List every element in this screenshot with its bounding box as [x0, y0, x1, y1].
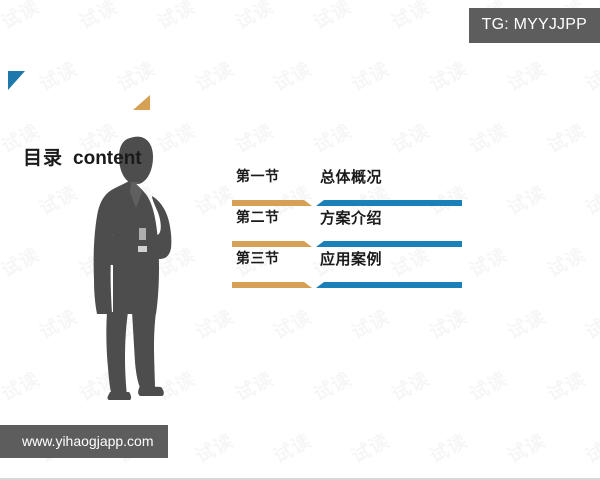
watermark-text: 试读 — [580, 426, 600, 469]
watermark-text: 试读 — [424, 302, 472, 345]
watermark-text: 试读 — [542, 364, 590, 407]
watermark-text: 试读 — [502, 426, 550, 469]
watermark-text: 试读 — [0, 302, 4, 345]
heading-blue-triangle-icon — [8, 71, 25, 90]
watermark-text: 试读 — [386, 116, 434, 159]
watermark-text: 试读 — [580, 54, 600, 97]
watermark-text: 试读 — [0, 364, 44, 407]
watermark-text: 试读 — [502, 178, 550, 221]
slide-canvas: 试读试读试读试读试读试读试读试读试读试读试读试读试读试读试读试读试读试读试读试读… — [0, 0, 600, 480]
agenda-section-title: 应用案例 — [320, 248, 382, 269]
watermark-text: 试读 — [268, 54, 316, 97]
watermark-text: 试读 — [34, 178, 82, 221]
agenda-section-title: 方案介绍 — [320, 207, 382, 228]
page-title: 目录content — [23, 143, 142, 170]
page-title-en: content — [73, 148, 142, 169]
watermark-text: 试读 — [346, 426, 394, 469]
website-url-badge: www.yihaogjapp.com — [0, 425, 168, 458]
watermark-text: 试读 — [346, 302, 394, 345]
watermark-text: 试读 — [424, 54, 472, 97]
agenda-row[interactable]: 第一节 总体概况 — [232, 166, 462, 207]
watermark-text: 试读 — [308, 116, 356, 159]
watermark-text: 试读 — [542, 116, 590, 159]
watermark-text: 试读 — [152, 0, 200, 35]
watermark-text: 试读 — [268, 426, 316, 469]
watermark-text: 试读 — [190, 426, 238, 469]
watermark-text: 试读 — [464, 240, 512, 283]
watermark-text: 试读 — [268, 302, 316, 345]
agenda-section-title: 总体概况 — [320, 166, 382, 187]
watermark-text: 试读 — [0, 0, 44, 35]
watermark-text: 试读 — [308, 0, 356, 35]
watermark-text: 试读 — [542, 240, 590, 283]
watermark-text: 试读 — [0, 178, 4, 221]
watermark-text: 试读 — [34, 302, 82, 345]
heading-orange-triangle-icon — [133, 95, 150, 110]
watermark-text: 试读 — [502, 54, 550, 97]
agenda-section-label: 第一节 — [236, 166, 280, 186]
watermark-text: 试读 — [346, 54, 394, 97]
agenda-row[interactable]: 第三节 应用案例 — [232, 248, 462, 289]
watermark-text: 试读 — [464, 116, 512, 159]
watermark-text: 试读 — [230, 116, 278, 159]
watermark-text: 试读 — [386, 364, 434, 407]
watermark-text: 试读 — [386, 0, 434, 35]
watermark-text: 试读 — [0, 240, 44, 283]
page-title-cn: 目录 — [23, 147, 63, 169]
agenda-row[interactable]: 第二节 方案介绍 — [232, 207, 462, 248]
agenda-section-label: 第三节 — [236, 248, 280, 268]
watermark-text: 试读 — [464, 364, 512, 407]
watermark-text: 试读 — [580, 302, 600, 345]
watermark-text: 试读 — [580, 178, 600, 221]
agenda-section-label: 第二节 — [236, 207, 280, 227]
agenda-divider-bar — [232, 276, 462, 285]
agenda-list: 第一节 总体概况 第二节 方案介绍 第三节 应用案例 — [232, 166, 462, 289]
watermark-text: 试读 — [230, 364, 278, 407]
watermark-text: 试读 — [308, 364, 356, 407]
watermark-text: 试读 — [74, 0, 122, 35]
telegram-handle-badge: TG: MYYJJPP — [469, 8, 600, 43]
watermark-text: 试读 — [230, 0, 278, 35]
agenda-divider-bar — [232, 235, 462, 244]
watermark-text: 试读 — [502, 302, 550, 345]
agenda-divider-bar — [232, 194, 462, 203]
watermark-text: 试读 — [424, 426, 472, 469]
page-title-block: 目录content — [0, 66, 260, 116]
